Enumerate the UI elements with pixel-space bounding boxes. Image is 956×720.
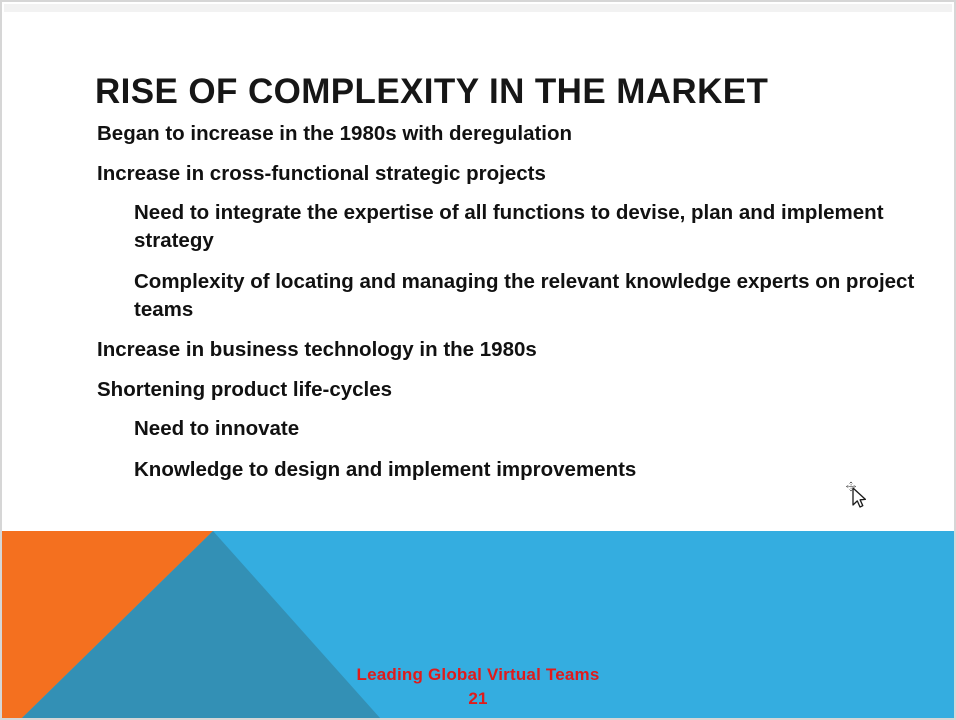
presentation-slide[interactable]: RISE OF COMPLEXITY IN THE MARKET Began t… — [0, 0, 956, 720]
slide-body-content[interactable]: Began to increase in the 1980s with dere… — [0, 120, 956, 496]
bullet-item-level-2[interactable]: Complexity of locating and managing the … — [0, 268, 956, 324]
footer-decoration-band — [2, 531, 954, 718]
slide-frame-highlight — [4, 4, 952, 12]
bullet-item-level-2[interactable]: Knowledge to design and implement improv… — [0, 456, 956, 484]
bullet-item-level-1[interactable]: Began to increase in the 1980s with dere… — [0, 120, 956, 147]
bullet-item-level-1[interactable]: Increase in cross-functional strategic p… — [0, 160, 956, 187]
slide-frame-top-border — [0, 0, 956, 2]
bullet-item-level-1[interactable]: Shortening product life-cycles — [0, 376, 956, 403]
footer-shapes-svg — [2, 531, 954, 718]
slide-title[interactable]: RISE OF COMPLEXITY IN THE MARKET — [95, 70, 895, 114]
bullet-item-level-2[interactable]: Need to integrate the expertise of all f… — [0, 199, 956, 255]
bullet-item-level-1[interactable]: Increase in business technology in the 1… — [0, 336, 956, 363]
bullet-item-level-2[interactable]: Need to innovate — [0, 415, 956, 443]
